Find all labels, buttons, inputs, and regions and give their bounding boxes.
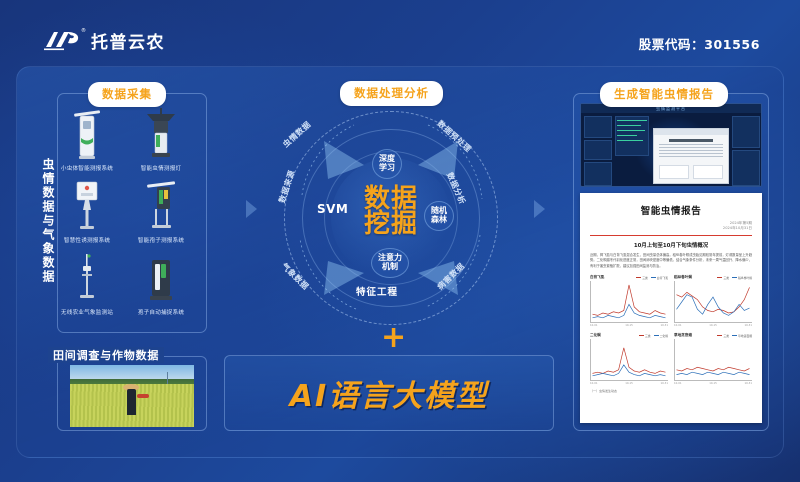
photo-farmer-body: [127, 389, 136, 415]
monitoring-dashboard-screenshot: 虫情监测平台: [580, 103, 762, 187]
report-chart-row: 白背飞虱三类白背飞虱10-0110-1510-31稻纵卷叶螟三类稻纵卷叶螟10-…: [590, 275, 752, 327]
report-divider: [590, 235, 752, 236]
legend-label: 三类: [723, 276, 729, 280]
dashboard-bar: [617, 125, 641, 126]
legend-label: 白背飞虱: [657, 276, 668, 280]
legend-label: 三类: [723, 334, 729, 338]
field-survey-title: 田间调查与作物数据: [48, 347, 164, 363]
dashboard-report-preview: [653, 128, 729, 184]
report-line-chart: 草地贪夜蛾三类草地贪夜蛾10-0110-1510-31: [674, 333, 752, 385]
node-label-line2: 学习: [379, 164, 395, 173]
node-label-line2: 机制: [378, 263, 402, 272]
capture-cabinet-icon: [124, 244, 198, 306]
device-grid: 小虫体智能测报系统 智能虫情测报灯: [50, 100, 210, 316]
infographic-canvas: ® 托普云农 股票代码：301556 数据采集 数据处理分析 生成智能虫情报告 …: [0, 0, 800, 482]
section-title-report-generation: 生成智能虫情报告: [600, 82, 728, 107]
device-item: 智能孢子测报系统: [124, 172, 198, 244]
x-tick-label: 10-15: [625, 324, 633, 327]
chart-legend: 三类二化螟: [639, 334, 668, 338]
legend-item: 三类: [636, 276, 648, 280]
chart-legend: 三类白背飞虱: [636, 276, 668, 280]
x-tick-label: 10-01: [674, 324, 682, 327]
chart-x-axis: 10-0110-1510-31: [674, 324, 752, 327]
report-line-chart: 二化螟三类二化螟10-0110-1510-31: [590, 333, 668, 385]
legend-label: 三类: [645, 334, 651, 338]
dashboard-panel: [732, 150, 760, 186]
preview-chart: [659, 165, 689, 179]
legend-swatch: [717, 277, 722, 278]
device-label: 小虫体智能测报系统: [50, 164, 124, 172]
x-tick-label: 10-31: [744, 324, 752, 327]
chart-title: 草地贪夜蛾: [674, 333, 692, 338]
device-label: 无线农业气象监测站: [50, 308, 124, 316]
dashboard-bar: [617, 135, 637, 136]
x-tick-label: 10-31: [744, 382, 752, 385]
dashboard-bar: [617, 130, 645, 131]
node-attention-mechanism: 注意力 机制: [371, 248, 409, 278]
chart-title: 稻纵卷叶螟: [674, 275, 692, 280]
flow-arrow-icon: [534, 200, 545, 218]
dashboard-bar: [617, 140, 643, 141]
legend-item: 稻纵卷叶螟: [732, 276, 752, 280]
legend-label: 二化螟: [660, 334, 668, 338]
legend-item: 三类: [717, 276, 729, 280]
legend-swatch: [732, 277, 737, 278]
chart-x-axis: 10-0110-1510-31: [674, 382, 752, 385]
page-header: ® 托普云农 股票代码：301556: [0, 0, 800, 70]
x-tick-label: 10-01: [590, 382, 598, 385]
chart-header: 白背飞虱三类白背飞虱: [590, 275, 668, 280]
device-item: 小虫体智能测报系统: [50, 100, 124, 172]
node-random-forest: 随机 森林: [424, 201, 454, 231]
device-row: 智慧性诱测报系统 智能孢子测报系统: [50, 172, 210, 244]
node-svm: SVM: [317, 203, 348, 216]
chart-header: 稻纵卷叶螟三类稻纵卷叶螟: [674, 275, 752, 280]
x-tick-label: 10-31: [660, 382, 668, 385]
chart-x-axis: 10-0110-1510-31: [590, 324, 668, 327]
node-label-line2: 森林: [431, 216, 447, 225]
legend-swatch: [732, 335, 737, 336]
dashboard-panel: [732, 116, 760, 148]
preview-text-row: [659, 153, 723, 154]
ai-language-model-banner: AI语言大模型: [224, 355, 554, 431]
plus-sign-icon: +: [381, 323, 406, 353]
dashboard-panel: [584, 140, 612, 160]
x-tick-label: 10-15: [709, 324, 717, 327]
device-item: 智能虫情测报灯: [124, 100, 198, 172]
preview-text-row: [659, 156, 723, 157]
report-subtitle: 10月上旬至10月下旬虫情概况: [590, 241, 752, 249]
device-label: 智慧性诱测报系统: [50, 236, 124, 244]
report-footnote: （一）虫情发生动态: [590, 389, 752, 393]
chart-plot-area: [674, 339, 752, 381]
legend-item: 三类: [717, 334, 729, 338]
device-label: 智能虫情测报灯: [124, 164, 198, 172]
legend-swatch: [717, 335, 722, 336]
report-chart-row: 二化螟三类二化螟10-0110-1510-31草地贪夜蛾三类草地贪夜蛾10-01…: [590, 333, 752, 385]
chart-title: 白背飞虱: [590, 275, 604, 280]
x-tick-label: 10-01: [674, 382, 682, 385]
x-tick-label: 10-01: [590, 324, 598, 327]
preview-title-bar: [669, 139, 713, 142]
legend-swatch: [639, 335, 644, 336]
report-body-text: 近期，褐飞虱与白背飞虱混合发生，田间虫量总体偏高。稻纵卷叶螟成虫始见期较常年提前…: [590, 253, 752, 269]
legend-label: 三类: [642, 276, 648, 280]
device-label: 孢子自动捕捉系统: [124, 308, 198, 316]
ai-banner-text: AI语言大模型: [290, 371, 488, 415]
x-tick-label: 10-31: [660, 324, 668, 327]
stock-code-label: 股票代码：301556: [639, 34, 760, 53]
node-deep-learning: 深度 学习: [372, 149, 402, 179]
node-feature-engineering: 特征工程: [356, 288, 398, 299]
section-title-data-processing: 数据处理分析: [340, 81, 443, 106]
chart-plot-area: [590, 281, 668, 323]
device-item: 智慧性诱测报系统: [50, 172, 124, 244]
device-item: 无线农业气象监测站: [50, 244, 124, 316]
flow-arrow-icon: [246, 200, 257, 218]
device-row: 小虫体智能测报系统 智能虫情测报灯: [50, 100, 210, 172]
device-label: 智能孢子测报系统: [124, 236, 198, 244]
preview-text-row: [659, 147, 723, 148]
chart-legend: 三类草地贪夜蛾: [717, 334, 752, 338]
legend-label: 稻纵卷叶螟: [738, 276, 752, 280]
preview-text-row: [659, 150, 723, 151]
report-date: 2024年10月31日: [590, 226, 752, 231]
report-line-chart: 稻纵卷叶螟三类稻纵卷叶螟10-0110-1510-31: [674, 275, 752, 327]
preview-chart: [693, 165, 723, 179]
rice-field-survey-photo: [70, 365, 194, 427]
device-item: 孢子自动捕捉系统: [124, 244, 198, 316]
registered-mark-icon: ®: [81, 28, 86, 34]
report-meta: 2024年第5期 2024年10月31日: [590, 221, 752, 232]
legend-item: 三类: [639, 334, 651, 338]
section-title-data-collection: 数据采集: [88, 82, 166, 107]
chart-plot-area: [674, 281, 752, 323]
legend-item: 白背飞虱: [651, 276, 668, 280]
x-tick-label: 10-15: [625, 382, 633, 385]
device-row: 无线农业气象监测站 孢子自动捕捉系统: [50, 244, 210, 316]
preview-text-row: [659, 144, 723, 145]
dashboard-panel: [584, 116, 612, 138]
report-line-chart: 白背飞虱三类白背飞虱10-0110-1510-31: [590, 275, 668, 327]
legend-item: 草地贪夜蛾: [732, 334, 752, 338]
legend-item: 二化螟: [654, 334, 668, 338]
tp-logo-icon: ®: [42, 29, 84, 53]
chart-legend: 三类稻纵卷叶螟: [717, 276, 752, 280]
x-tick-label: 10-15: [709, 382, 717, 385]
dashboard-bar: [617, 120, 647, 121]
chart-header: 草地贪夜蛾三类草地贪夜蛾: [674, 333, 752, 338]
cabinet-device-icon: [50, 100, 124, 162]
photo-farmer-arm: [137, 394, 149, 398]
brand-logo: ® 托普云农: [42, 28, 165, 53]
chart-x-axis: 10-0110-1510-31: [590, 382, 668, 385]
spore-device-icon: [124, 172, 198, 234]
intelligent-pest-report-document: 智能虫情报告 2024年第5期 2024年10月31日 10月上旬至10月下旬虫…: [580, 193, 762, 423]
weather-station-icon: [50, 244, 124, 306]
legend-swatch: [654, 335, 659, 336]
chart-plot-area: [590, 339, 668, 381]
lamp-device-icon: [124, 100, 198, 162]
preview-header-bar: [654, 129, 728, 135]
box-pole-device-icon: [50, 172, 124, 234]
data-mining-diagram: 数据 挖掘 深度 学习 SVM 随机 森林 注意力 机制 特征工程 虫情数据 数…: [276, 103, 506, 333]
legend-swatch: [651, 277, 656, 278]
dashboard-panel: [584, 162, 612, 186]
brand-name: 托普云农: [91, 28, 165, 53]
chart-header: 二化螟三类二化螟: [590, 333, 668, 338]
report-title: 智能虫情报告: [590, 203, 752, 217]
legend-swatch: [636, 277, 641, 278]
chart-title: 二化螟: [590, 333, 601, 338]
legend-label: 草地贪夜蛾: [738, 334, 752, 338]
